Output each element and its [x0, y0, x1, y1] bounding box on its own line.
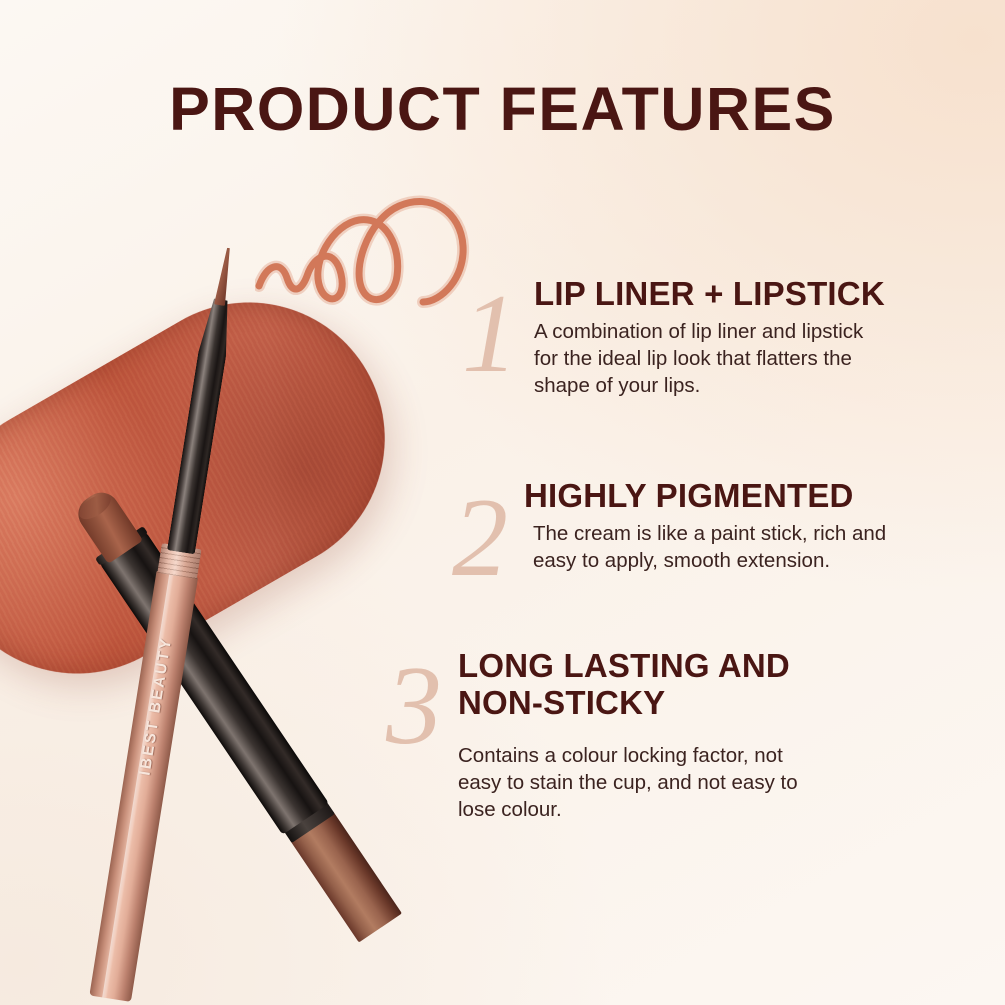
feature-heading-2: HIGHLY PIGMENTED [524, 478, 964, 515]
feature-number-1: 1 [462, 278, 518, 390]
feature-number-3: 3 [386, 650, 442, 762]
feature-body-3: Contains a colour locking factor, not ea… [458, 742, 878, 823]
feature-heading-3: LONG LASTING AND NON-STICKY [458, 648, 878, 722]
product-features-banner: PRODUCT FEATURES IBEST BEAUTY [0, 0, 1005, 1005]
feature-number-2: 2 [452, 482, 508, 594]
feature-item-3: 3 LONG LASTING AND NON-STICKY Contains a… [458, 648, 878, 823]
feature-item-1: 1 LIP LINER + LIPSTICK A combination of … [534, 276, 954, 399]
feature-list: 1 LIP LINER + LIPSTICK A combination of … [0, 0, 1005, 1005]
feature-item-2: 2 HIGHLY PIGMENTED The cream is like a p… [524, 478, 964, 574]
feature-body-2: The cream is like a paint stick, rich an… [533, 520, 964, 574]
feature-heading-1: LIP LINER + LIPSTICK [534, 276, 954, 313]
feature-body-1: A combination of lip liner and lipstick … [534, 318, 954, 399]
